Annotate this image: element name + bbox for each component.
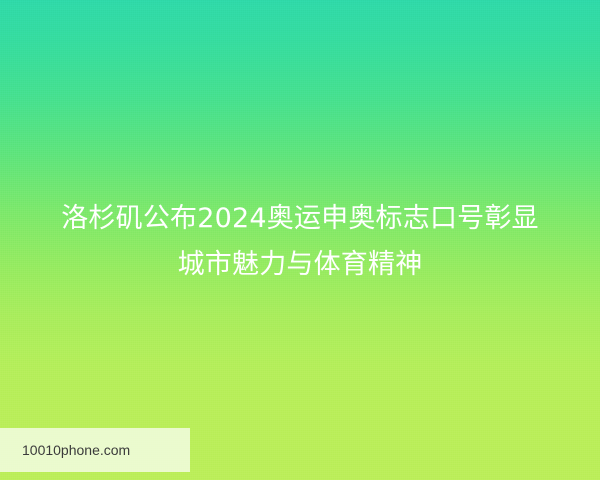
watermark-label: 10010phone.com	[22, 442, 130, 458]
promotional-banner: 洛杉矶公布2024奥运申奥标志口号彰显 城市魅力与体育精神 10010phone…	[0, 0, 600, 480]
watermark-badge: 10010phone.com	[0, 428, 190, 472]
headline-text: 洛杉矶公布2024奥运申奥标志口号彰显 城市魅力与体育精神	[0, 196, 600, 288]
